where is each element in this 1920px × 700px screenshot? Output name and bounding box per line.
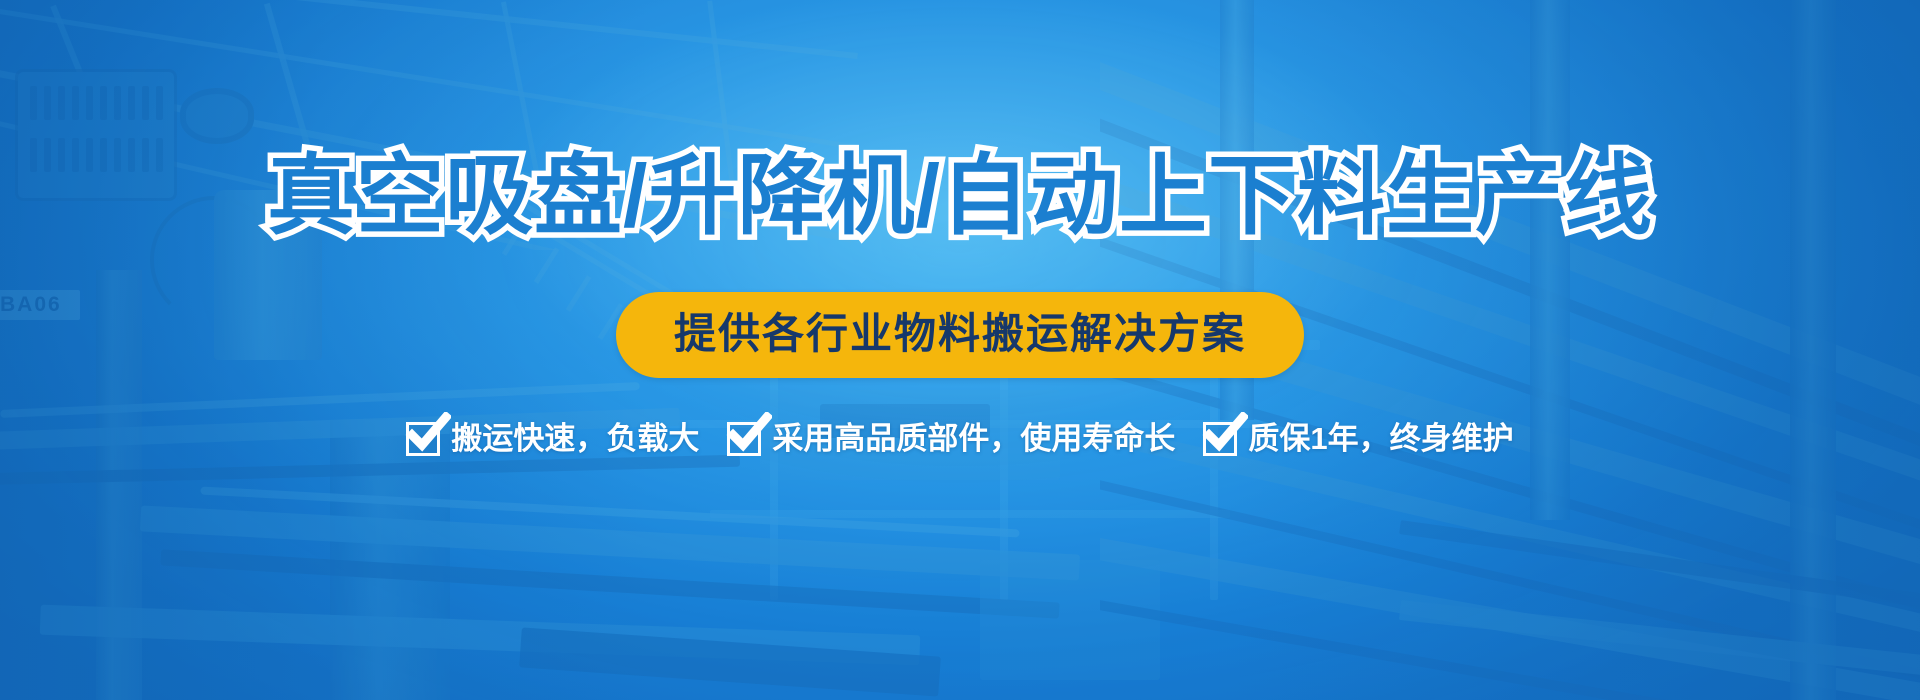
check-box-icon [727, 422, 761, 456]
check-box-icon [406, 422, 440, 456]
feature-label: 质保1年，终身维护 [1248, 420, 1513, 458]
banner-subtitle-pill: 提供各行业物料搬运解决方案 [616, 292, 1304, 378]
feature-label: 采用高品质部件，使用寿命长 [772, 420, 1175, 458]
banner-feature-list: 搬运快速，负载大 采用高品质部件，使用寿命长 质保1年，终身维护 [0, 420, 1920, 458]
banner-content: 真空吸盘/升降机/自动上下料生产线 提供各行业物料搬运解决方案 搬运快速，负载大 [0, 0, 1920, 700]
feature-item: 搬运快速，负载大 [406, 420, 699, 458]
banner-subtitle-row: 提供各行业物料搬运解决方案 [0, 292, 1920, 378]
check-box-icon [1203, 422, 1237, 456]
promo-banner: BA06 [0, 0, 1920, 700]
feature-item: 采用高品质部件，使用寿命长 [727, 420, 1175, 458]
feature-item: 质保1年，终身维护 [1203, 420, 1513, 458]
feature-label: 搬运快速，负载大 [451, 420, 699, 458]
banner-headline: 真空吸盘/升降机/自动上下料生产线 [0, 146, 1920, 246]
